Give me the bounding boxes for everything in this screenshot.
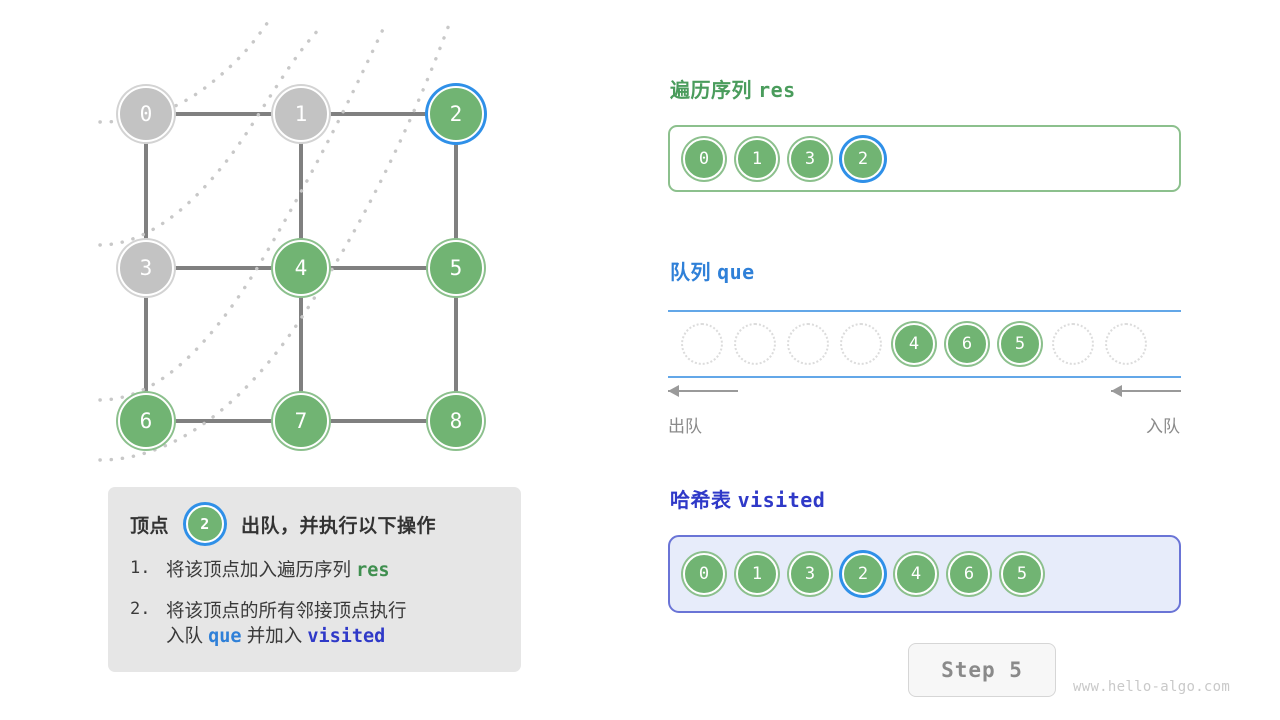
graph-node-label: 6 xyxy=(140,411,153,432)
info-head-suffix: 出队，并执行以下操作 xyxy=(241,511,436,538)
info-step-1-text: 将该顶点加入遍历序列 res xyxy=(166,557,499,584)
info-step-2-keyword-visited: visited xyxy=(307,626,385,647)
step-badge: Step 5 xyxy=(908,643,1056,697)
graph-node-label: 4 xyxy=(295,258,308,279)
chip-label: 0 xyxy=(699,149,709,169)
visited-title-cn: 哈希表 xyxy=(670,490,732,512)
chip-label: 6 xyxy=(962,334,972,354)
que-title-cn: 队列 xyxy=(670,262,711,284)
graph-node-4[interactable]: 4 xyxy=(273,240,329,296)
enqueue-label: 入队 xyxy=(1146,412,1180,437)
graph-node-5[interactable]: 5 xyxy=(428,240,484,296)
info-step-2-text: 将该顶点的所有邻接顶点执行 入队 que 并加入 visited xyxy=(166,598,499,650)
visited-item-4[interactable]: 4 xyxy=(895,553,937,595)
queue-slot-8[interactable] xyxy=(1105,323,1147,365)
queue-slot-7[interactable] xyxy=(1052,323,1094,365)
res-title-cn: 遍历序列 xyxy=(670,80,752,102)
info-step-2-number: 2. xyxy=(130,598,166,650)
info-step-1-number: 1. xyxy=(130,557,166,584)
queue-slot-6[interactable]: 5 xyxy=(999,323,1041,365)
info-step-2-line1: 将该顶点的所有邻接顶点执行 xyxy=(166,600,407,621)
visited-item-1[interactable]: 1 xyxy=(736,553,778,595)
chip-label: 2 xyxy=(858,564,868,584)
graph-node-label: 0 xyxy=(140,104,153,125)
visited-section-title: 哈希表 visited xyxy=(670,484,825,513)
visited-title-var: visited xyxy=(738,488,826,512)
graph-node-6[interactable]: 6 xyxy=(118,393,174,449)
visited-item-0[interactable]: 0 xyxy=(683,553,725,595)
info-step-1-keyword: res xyxy=(356,560,389,581)
info-step-2: 2. 将该顶点的所有邻接顶点执行 入队 que 并加入 visited xyxy=(130,598,499,650)
operation-info-box: 顶点 2 出队，并执行以下操作 1. 将该顶点加入遍历序列 res 2. 将该顶… xyxy=(108,487,521,672)
graph-node-label: 5 xyxy=(450,258,463,279)
queue-container: 465 xyxy=(668,310,1181,378)
graph-node-2[interactable]: 2 xyxy=(428,86,484,142)
queue-slot-0[interactable] xyxy=(681,323,723,365)
chip-label: 3 xyxy=(805,564,815,584)
visited-item-6[interactable]: 5 xyxy=(1001,553,1043,595)
queue-slot-5[interactable]: 6 xyxy=(946,323,988,365)
graph-node-3[interactable]: 3 xyxy=(118,240,174,296)
enqueue-arrow-icon xyxy=(1111,390,1181,392)
right-panel: 遍历序列 res 0132 队列 que 465 出队 入队 哈希表 visit… xyxy=(660,0,1280,720)
chip-label: 5 xyxy=(1017,564,1027,584)
queue-arrows: 出队 入队 xyxy=(668,384,1181,442)
graph-node-8[interactable]: 8 xyxy=(428,393,484,449)
que-section-title: 队列 que xyxy=(670,256,755,285)
graph-node-label: 3 xyxy=(140,258,153,279)
graph-node-1[interactable]: 1 xyxy=(273,86,329,142)
chip-label: 1 xyxy=(752,149,762,169)
res-item-1[interactable]: 1 xyxy=(736,138,778,180)
info-head-prefix: 顶点 xyxy=(130,511,169,538)
graph-node-label: 2 xyxy=(450,104,463,125)
visited-item-5[interactable]: 6 xyxy=(948,553,990,595)
res-item-3[interactable]: 2 xyxy=(842,138,884,180)
info-step-1: 1. 将该顶点加入遍历序列 res xyxy=(130,557,499,584)
dequeue-arrow-icon xyxy=(668,390,738,392)
queue-slot-1[interactable] xyxy=(734,323,776,365)
info-step-1-pre: 将该顶点加入遍历序列 xyxy=(166,559,356,580)
chip-label: 6 xyxy=(964,564,974,584)
res-title-var: res xyxy=(758,78,796,102)
dotted-curve-2 xyxy=(100,25,385,400)
res-container: 0132 xyxy=(668,125,1181,192)
chip-label: 1 xyxy=(752,564,762,584)
visited-item-3[interactable]: 2 xyxy=(842,553,884,595)
chip-label: 4 xyxy=(909,334,919,354)
info-step-2-line2-mid: 并加入 xyxy=(242,625,308,646)
info-step-2-line2-pre: 入队 xyxy=(166,625,208,646)
chip-label: 0 xyxy=(699,564,709,584)
que-title-var: que xyxy=(717,260,755,284)
graph-node-7[interactable]: 7 xyxy=(273,393,329,449)
visited-item-2[interactable]: 3 xyxy=(789,553,831,595)
info-header: 顶点 2 出队，并执行以下操作 xyxy=(130,505,499,543)
info-step-2-keyword-que: que xyxy=(208,626,241,647)
info-current-node: 2 xyxy=(186,505,224,543)
graph-node-label: 7 xyxy=(295,411,308,432)
res-item-0[interactable]: 0 xyxy=(683,138,725,180)
graph-node-label: 1 xyxy=(295,104,308,125)
watermark: www.hello-algo.com xyxy=(1073,679,1230,695)
graph-node-0[interactable]: 0 xyxy=(118,86,174,142)
chip-label: 4 xyxy=(911,564,921,584)
chip-label: 2 xyxy=(858,149,868,169)
info-current-node-label: 2 xyxy=(200,515,210,533)
graph-node-label: 8 xyxy=(450,411,463,432)
queue-slot-2[interactable] xyxy=(787,323,829,365)
visited-container: 0132465 xyxy=(668,535,1181,613)
chip-label: 5 xyxy=(1015,334,1025,354)
chip-label: 3 xyxy=(805,149,815,169)
queue-slot-3[interactable] xyxy=(840,323,882,365)
queue-slot-4[interactable]: 4 xyxy=(893,323,935,365)
res-item-2[interactable]: 3 xyxy=(789,138,831,180)
illustration-canvas: 012345678 顶点 2 出队，并执行以下操作 1. 将该顶点加入遍历序列 … xyxy=(0,0,1280,720)
res-section-title: 遍历序列 res xyxy=(670,74,796,103)
graph-panel: 012345678 xyxy=(0,0,620,500)
dequeue-label: 出队 xyxy=(668,412,702,437)
